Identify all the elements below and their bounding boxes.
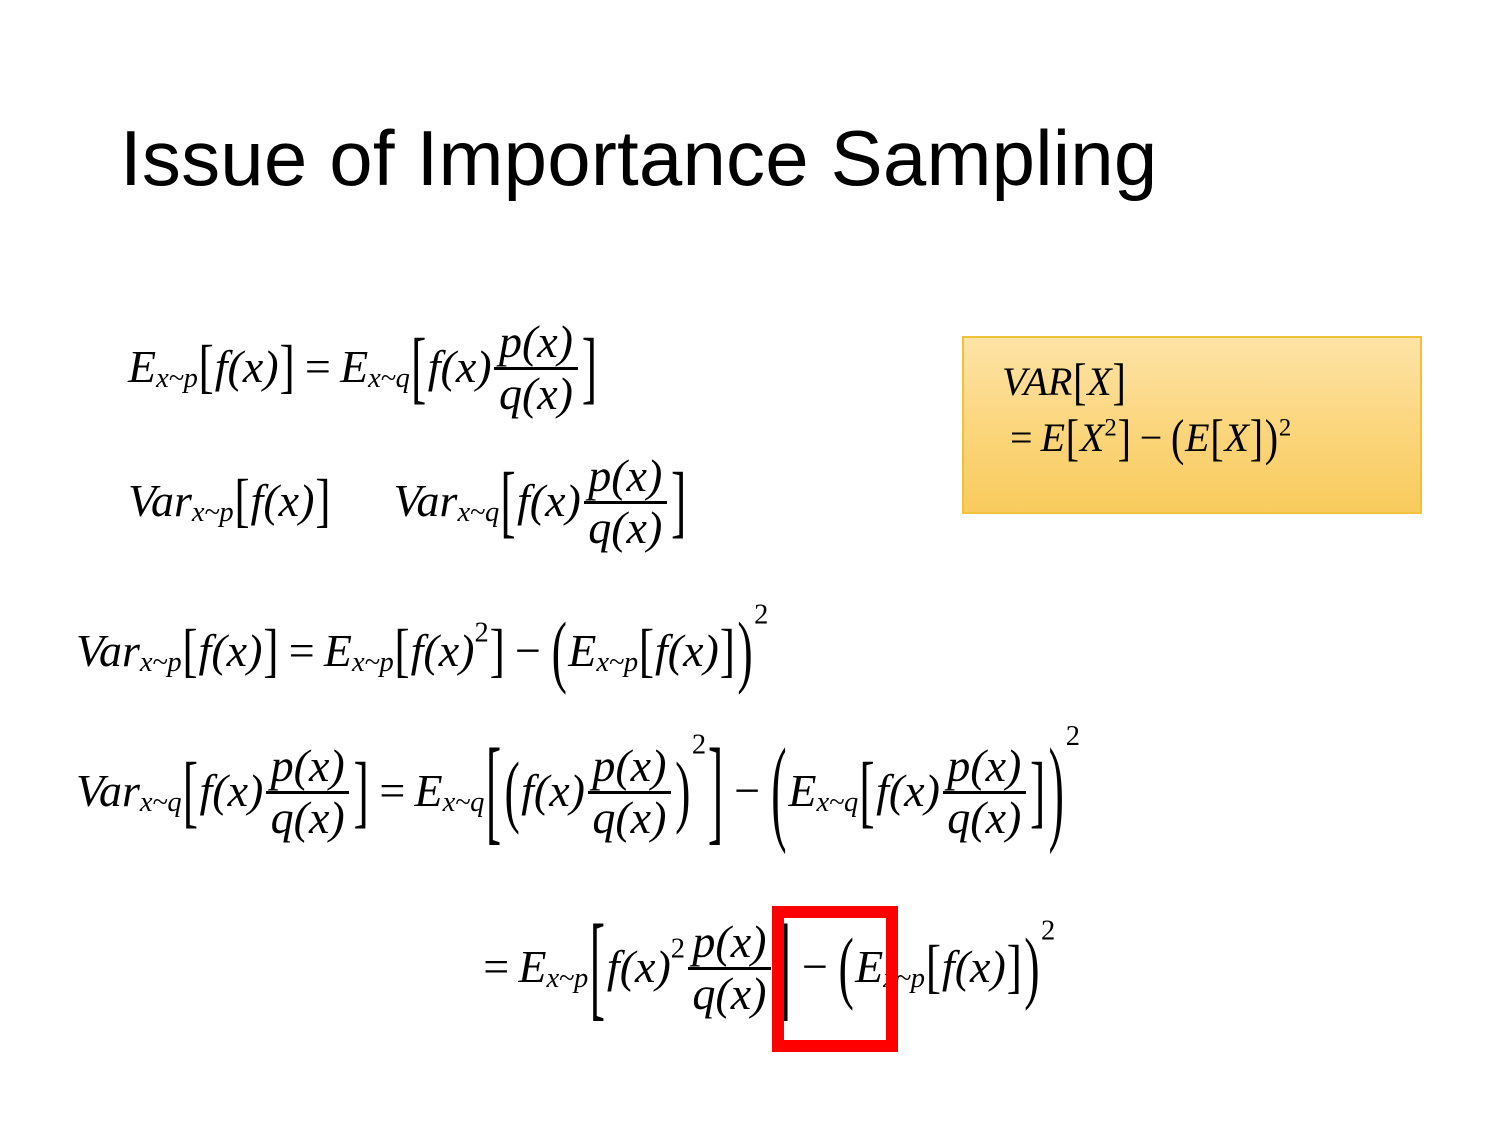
function-f-of-x: f(x) <box>607 944 671 990</box>
callout-body-line: =E[X2]−(E[X])2 <box>1002 418 1420 458</box>
equation-variance-pair: Varx~p[f(x)] Varx~q[f(x)p(x)q(x)] <box>128 452 688 551</box>
right-bracket: ] <box>353 751 368 832</box>
left-bracket: [ <box>182 622 197 681</box>
right-bracket: ] <box>776 909 791 1026</box>
equals-sign: = <box>1002 418 1041 458</box>
function-f-of-x: f(x) <box>942 944 1006 990</box>
equals-sign: = <box>280 628 324 674</box>
right-paren: ) <box>1265 412 1278 463</box>
subscript-x-sim-p: x~p <box>546 965 588 994</box>
subscript-x-sim-p: x~p <box>156 365 198 394</box>
function-f-of-x: f(x) <box>517 478 581 524</box>
left-bracket: [ <box>859 751 874 832</box>
left-paren: ( <box>771 733 786 850</box>
left-paren: ( <box>1171 412 1184 463</box>
equation-expectation-identity: Ex~p[f(x)] = Ex~q[f(x)p(x)q(x)] <box>128 318 598 417</box>
symbol-E: E <box>340 344 368 390</box>
symbol-E: E <box>414 768 442 814</box>
variance-definition-callout: VAR[X] =E[X2]−(E[X])2 <box>962 336 1422 514</box>
fraction-numerator: p(x) <box>588 743 671 790</box>
subscript-x-sim-q: x~q <box>457 499 499 528</box>
left-paren: ( <box>504 751 519 832</box>
page-title: Issue of Importance Sampling <box>120 118 1157 200</box>
function-f-of-x: f(x) <box>411 628 475 674</box>
function-f-of-x: f(x) <box>876 768 940 814</box>
fraction-numerator: p(x) <box>266 743 349 790</box>
right-bracket: ] <box>1007 938 1022 997</box>
left-paren: ( <box>552 611 567 692</box>
fraction-numerator: p(x) <box>584 453 667 500</box>
function-f-of-x: f(x) <box>199 768 263 814</box>
subscript-x-sim-q: x~q <box>368 365 410 394</box>
right-bracket: ] <box>1030 751 1045 832</box>
fraction-numerator: p(x) <box>943 743 1026 790</box>
equals-sign: = <box>474 944 518 990</box>
operator-var: Var <box>394 478 458 524</box>
subscript-x-sim-p: x~p <box>352 649 394 678</box>
right-bracket: ] <box>280 338 295 397</box>
left-bracket: [ <box>1210 412 1223 463</box>
left-bracket: [ <box>486 733 501 850</box>
variable-X: X <box>1087 359 1111 404</box>
left-bracket: [ <box>1066 412 1079 463</box>
symbol-E: E <box>128 344 156 390</box>
subscript-x-sim-q: x~q <box>443 789 485 818</box>
right-bracket: ] <box>1113 356 1126 407</box>
minus-sign: − <box>793 944 837 990</box>
variable-X: X <box>1080 415 1104 460</box>
left-bracket: [ <box>926 938 941 997</box>
equation-var-q-expansion: Varx~q[f(x)p(x)q(x)] = Ex~q[(f(x)p(x)q(x… <box>76 742 1080 841</box>
fraction-p-over-q: p(x)q(x) <box>266 743 349 842</box>
subscript-x-sim-q: x~q <box>140 789 182 818</box>
fraction-denominator: q(x) <box>266 795 349 842</box>
symbol-E: E <box>855 944 883 990</box>
function-f-of-x: f(x) <box>521 768 585 814</box>
function-f-of-x: f(x) <box>428 344 492 390</box>
operator-VAR: VAR <box>1002 359 1072 404</box>
operator-var: Var <box>128 478 192 524</box>
left-bracket: [ <box>1073 356 1086 407</box>
equation-final-line: = Ex~p[f(x)2p(x)q(x)] − (Ex~p[f(x)])2 <box>474 918 1055 1017</box>
fraction-numerator: p(x) <box>688 919 771 966</box>
symbol-E: E <box>324 628 352 674</box>
exponent-two: 2 <box>474 619 488 648</box>
left-bracket: [ <box>183 751 198 832</box>
exponent-two: 2 <box>671 935 685 964</box>
exponent-two: 2 <box>1104 417 1116 442</box>
fraction-denominator: q(x) <box>584 505 667 552</box>
fraction-p-over-q-highlighted: p(x)q(x) <box>688 919 771 1018</box>
right-paren: ) <box>1049 733 1064 850</box>
minus-sign: − <box>506 628 550 674</box>
exponent-two: 2 <box>754 601 768 630</box>
equation-var-p-expansion: Varx~p[f(x)] = Ex~p[f(x)2] − (Ex~p[f(x)]… <box>76 628 768 674</box>
fraction-denominator: q(x) <box>688 971 771 1018</box>
left-bracket: [ <box>394 622 409 681</box>
fraction-denominator: q(x) <box>588 795 671 842</box>
callout-title-line: VAR[X] <box>1002 362 1420 402</box>
right-paren: ) <box>737 611 752 692</box>
right-bracket: ] <box>315 472 330 531</box>
symbol-E: E <box>1041 415 1065 460</box>
function-f-of-x: f(x) <box>215 344 279 390</box>
subscript-x-sim-p: x~p <box>192 499 234 528</box>
right-bracket: ] <box>720 622 735 681</box>
fraction-p-over-q: p(x)q(x) <box>584 453 667 552</box>
subscript-x-sim-p: x~p <box>140 649 182 678</box>
right-bracket: ] <box>1250 412 1263 463</box>
symbol-E: E <box>788 768 816 814</box>
right-bracket: ] <box>708 733 723 850</box>
left-bracket: [ <box>199 338 214 397</box>
fraction-numerator: p(x) <box>494 319 577 366</box>
left-bracket: [ <box>590 909 605 1026</box>
equals-sign: = <box>370 768 414 814</box>
fraction-p-over-q: p(x)q(x) <box>943 743 1026 842</box>
left-bracket: [ <box>500 461 515 542</box>
function-f-of-x: f(x) <box>655 628 719 674</box>
operator-var: Var <box>76 768 140 814</box>
symbol-E: E <box>518 944 546 990</box>
right-bracket: ] <box>490 622 505 681</box>
subscript-x-sim-p: x~p <box>883 965 925 994</box>
right-paren: ) <box>1024 927 1039 1008</box>
right-bracket: ] <box>582 327 597 408</box>
symbol-E: E <box>1185 415 1209 460</box>
exponent-two: 2 <box>1066 723 1080 752</box>
variable-X: X <box>1225 415 1249 460</box>
right-bracket: ] <box>1118 412 1131 463</box>
left-bracket: [ <box>234 472 249 531</box>
right-bracket: ] <box>263 622 278 681</box>
equals-sign: = <box>296 344 340 390</box>
left-bracket: [ <box>639 622 654 681</box>
minus-sign: − <box>1132 418 1171 458</box>
operator-var: Var <box>76 628 140 674</box>
fraction-p-over-q: p(x)q(x) <box>588 743 671 842</box>
right-paren: ) <box>675 751 690 832</box>
exponent-two: 2 <box>1279 417 1291 442</box>
fraction-denominator: q(x) <box>943 795 1026 842</box>
exponent-two: 2 <box>692 732 706 761</box>
fraction-p-over-q: p(x)q(x) <box>494 319 577 418</box>
symbol-E: E <box>568 628 596 674</box>
subscript-x-sim-p: x~p <box>596 649 638 678</box>
exponent-two: 2 <box>1041 917 1055 946</box>
right-bracket: ] <box>671 461 686 542</box>
function-f-of-x: f(x) <box>251 478 315 524</box>
subscript-x-sim-q: x~q <box>817 789 859 818</box>
fraction-denominator: q(x) <box>494 371 577 418</box>
left-bracket: [ <box>411 327 426 408</box>
function-f-of-x: f(x) <box>199 628 263 674</box>
left-paren: ( <box>838 927 853 1008</box>
minus-sign: − <box>725 768 769 814</box>
